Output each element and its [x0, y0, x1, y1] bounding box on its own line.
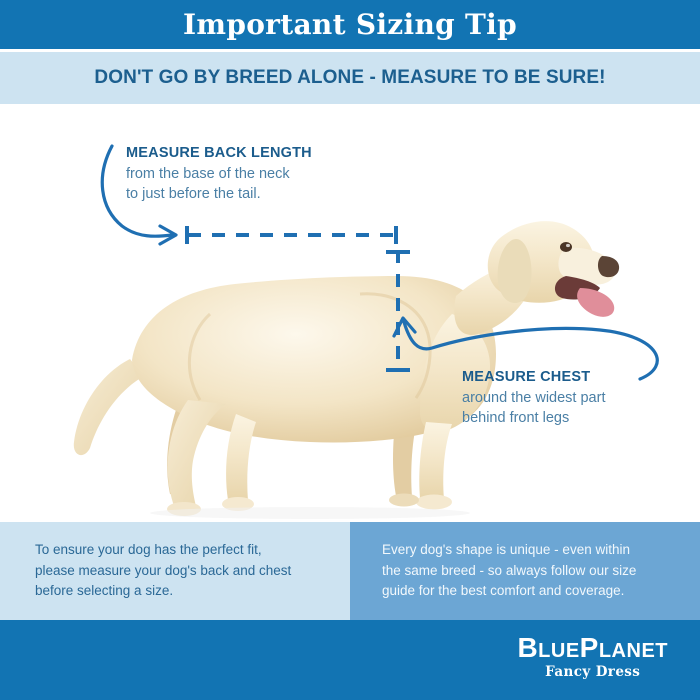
info-panel-right: Every dog's shape is unique - even withi… — [350, 522, 700, 620]
info-panel-right-line3: guide for the best comfort and coverage. — [382, 581, 686, 602]
subtitle-text: DON'T GO BY BREED ALONE - MEASURE TO BE … — [94, 67, 605, 89]
info-panel-left: To ensure your dog has the perfect fit, … — [0, 522, 350, 620]
info-panels: To ensure your dog has the perfect fit, … — [0, 522, 700, 620]
footer-bar: BluePlanet Fancy Dress — [0, 620, 700, 700]
illustration-stage: MEASURE BACK LENGTH from the base of the… — [0, 104, 700, 522]
annotation-chest-line2: behind front legs — [462, 408, 605, 429]
brand-logo-name: BluePlanet — [517, 634, 668, 662]
infographic-page: Important Sizing Tip DON'T GO BY BREED A… — [0, 0, 700, 700]
header-bar: Important Sizing Tip — [0, 0, 700, 49]
annotation-chest: MEASURE CHEST around the widest part beh… — [462, 368, 605, 429]
info-panel-left-line3: before selecting a size. — [35, 581, 336, 602]
page-title: Important Sizing Tip — [183, 11, 517, 39]
info-panel-right-line1: Every dog's shape is unique - even withi… — [382, 540, 686, 561]
annotation-chest-line1: around the widest part — [462, 388, 605, 409]
subtitle-band: DON'T GO BY BREED ALONE - MEASURE TO BE … — [0, 52, 700, 104]
brand-logo[interactable]: BluePlanet Fancy Dress — [517, 634, 668, 680]
measurement-overlay — [0, 104, 700, 522]
annotation-chest-title: MEASURE CHEST — [462, 368, 605, 388]
annotation-back-length: MEASURE BACK LENGTH from the base of the… — [126, 144, 312, 205]
annotation-back-length-title: MEASURE BACK LENGTH — [126, 144, 312, 164]
brand-logo-tagline: Fancy Dress — [517, 666, 668, 680]
annotation-back-length-line2: to just before the tail. — [126, 184, 312, 205]
info-panel-left-line1: To ensure your dog has the perfect fit, — [35, 540, 336, 561]
info-panel-left-line2: please measure your dog's back and chest — [35, 561, 336, 582]
annotation-back-length-line1: from the base of the neck — [126, 164, 312, 185]
info-panel-right-line2: the same breed - so always follow our si… — [382, 561, 686, 582]
